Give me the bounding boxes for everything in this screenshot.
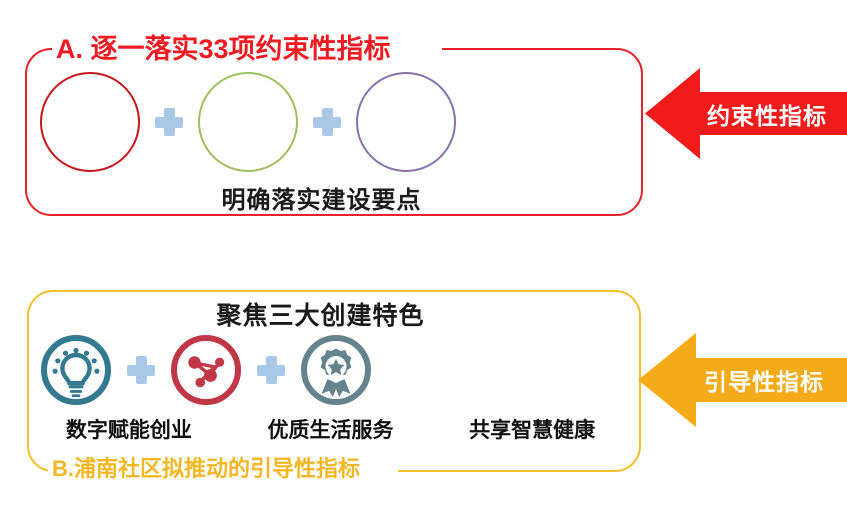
icon-label-shared-smart-health: 共享智慧健康 xyxy=(431,414,633,444)
circle-renbenhua[interactable]: 人本 化 xyxy=(40,72,140,172)
plus-icon xyxy=(125,354,157,386)
arrow-label: 约束性指标 xyxy=(707,65,827,162)
slide-canvas: A. 逐一落实33项约束性指标 人本 化 生态 化 数字 化 明确 xyxy=(0,0,847,512)
circle-shengtaihua[interactable]: 生态 化 xyxy=(198,72,298,172)
section-b-label-row: 数字赋能创业 优质生活服务 共享智慧健康 xyxy=(28,414,633,444)
circle-label-line2: 化 xyxy=(234,122,261,150)
plus-icon xyxy=(311,106,343,138)
plus-icon xyxy=(153,106,185,138)
circle-disc: 数字 化 xyxy=(362,78,450,166)
section-b-heading: 聚焦三大创建特色 xyxy=(0,296,641,332)
award-ribbon-icon[interactable] xyxy=(300,334,372,406)
circle-disc: 人本 化 xyxy=(46,78,134,166)
arrow-left-icon-guidance[interactable]: 引导性指标 xyxy=(638,330,847,430)
circle-label-line1: 生态 xyxy=(221,95,275,123)
circle-label-line1: 数字 xyxy=(379,95,433,123)
circle-label-line1: 人本 xyxy=(63,95,117,123)
plus-icon xyxy=(255,354,287,386)
section-b-icon-row xyxy=(40,334,620,406)
section-a-title: A. 逐一落实33项约束性指标 xyxy=(56,33,391,65)
circle-label-line2: 化 xyxy=(76,122,103,150)
network-share-icon[interactable] xyxy=(170,334,242,406)
section-b-title: B.浦南社区拟推动的引导性指标 xyxy=(52,455,360,483)
circle-label-line2: 化 xyxy=(392,122,419,150)
lightbulb-icon[interactable] xyxy=(40,334,112,406)
icon-label-digital-entrepreneurship: 数字赋能创业 xyxy=(28,414,230,444)
arrow-left-icon-constraint[interactable]: 约束性指标 xyxy=(645,65,847,162)
icon-label-quality-life-service: 优质生活服务 xyxy=(230,414,432,444)
circle-disc: 生态 化 xyxy=(204,78,292,166)
section-a-circle-row: 人本 化 生态 化 数字 化 xyxy=(40,72,620,172)
section-a-subtitle: 明确落实建设要点 xyxy=(0,180,643,215)
circle-shuzihua[interactable]: 数字 化 xyxy=(356,72,456,172)
arrow-label: 引导性指标 xyxy=(704,330,824,430)
